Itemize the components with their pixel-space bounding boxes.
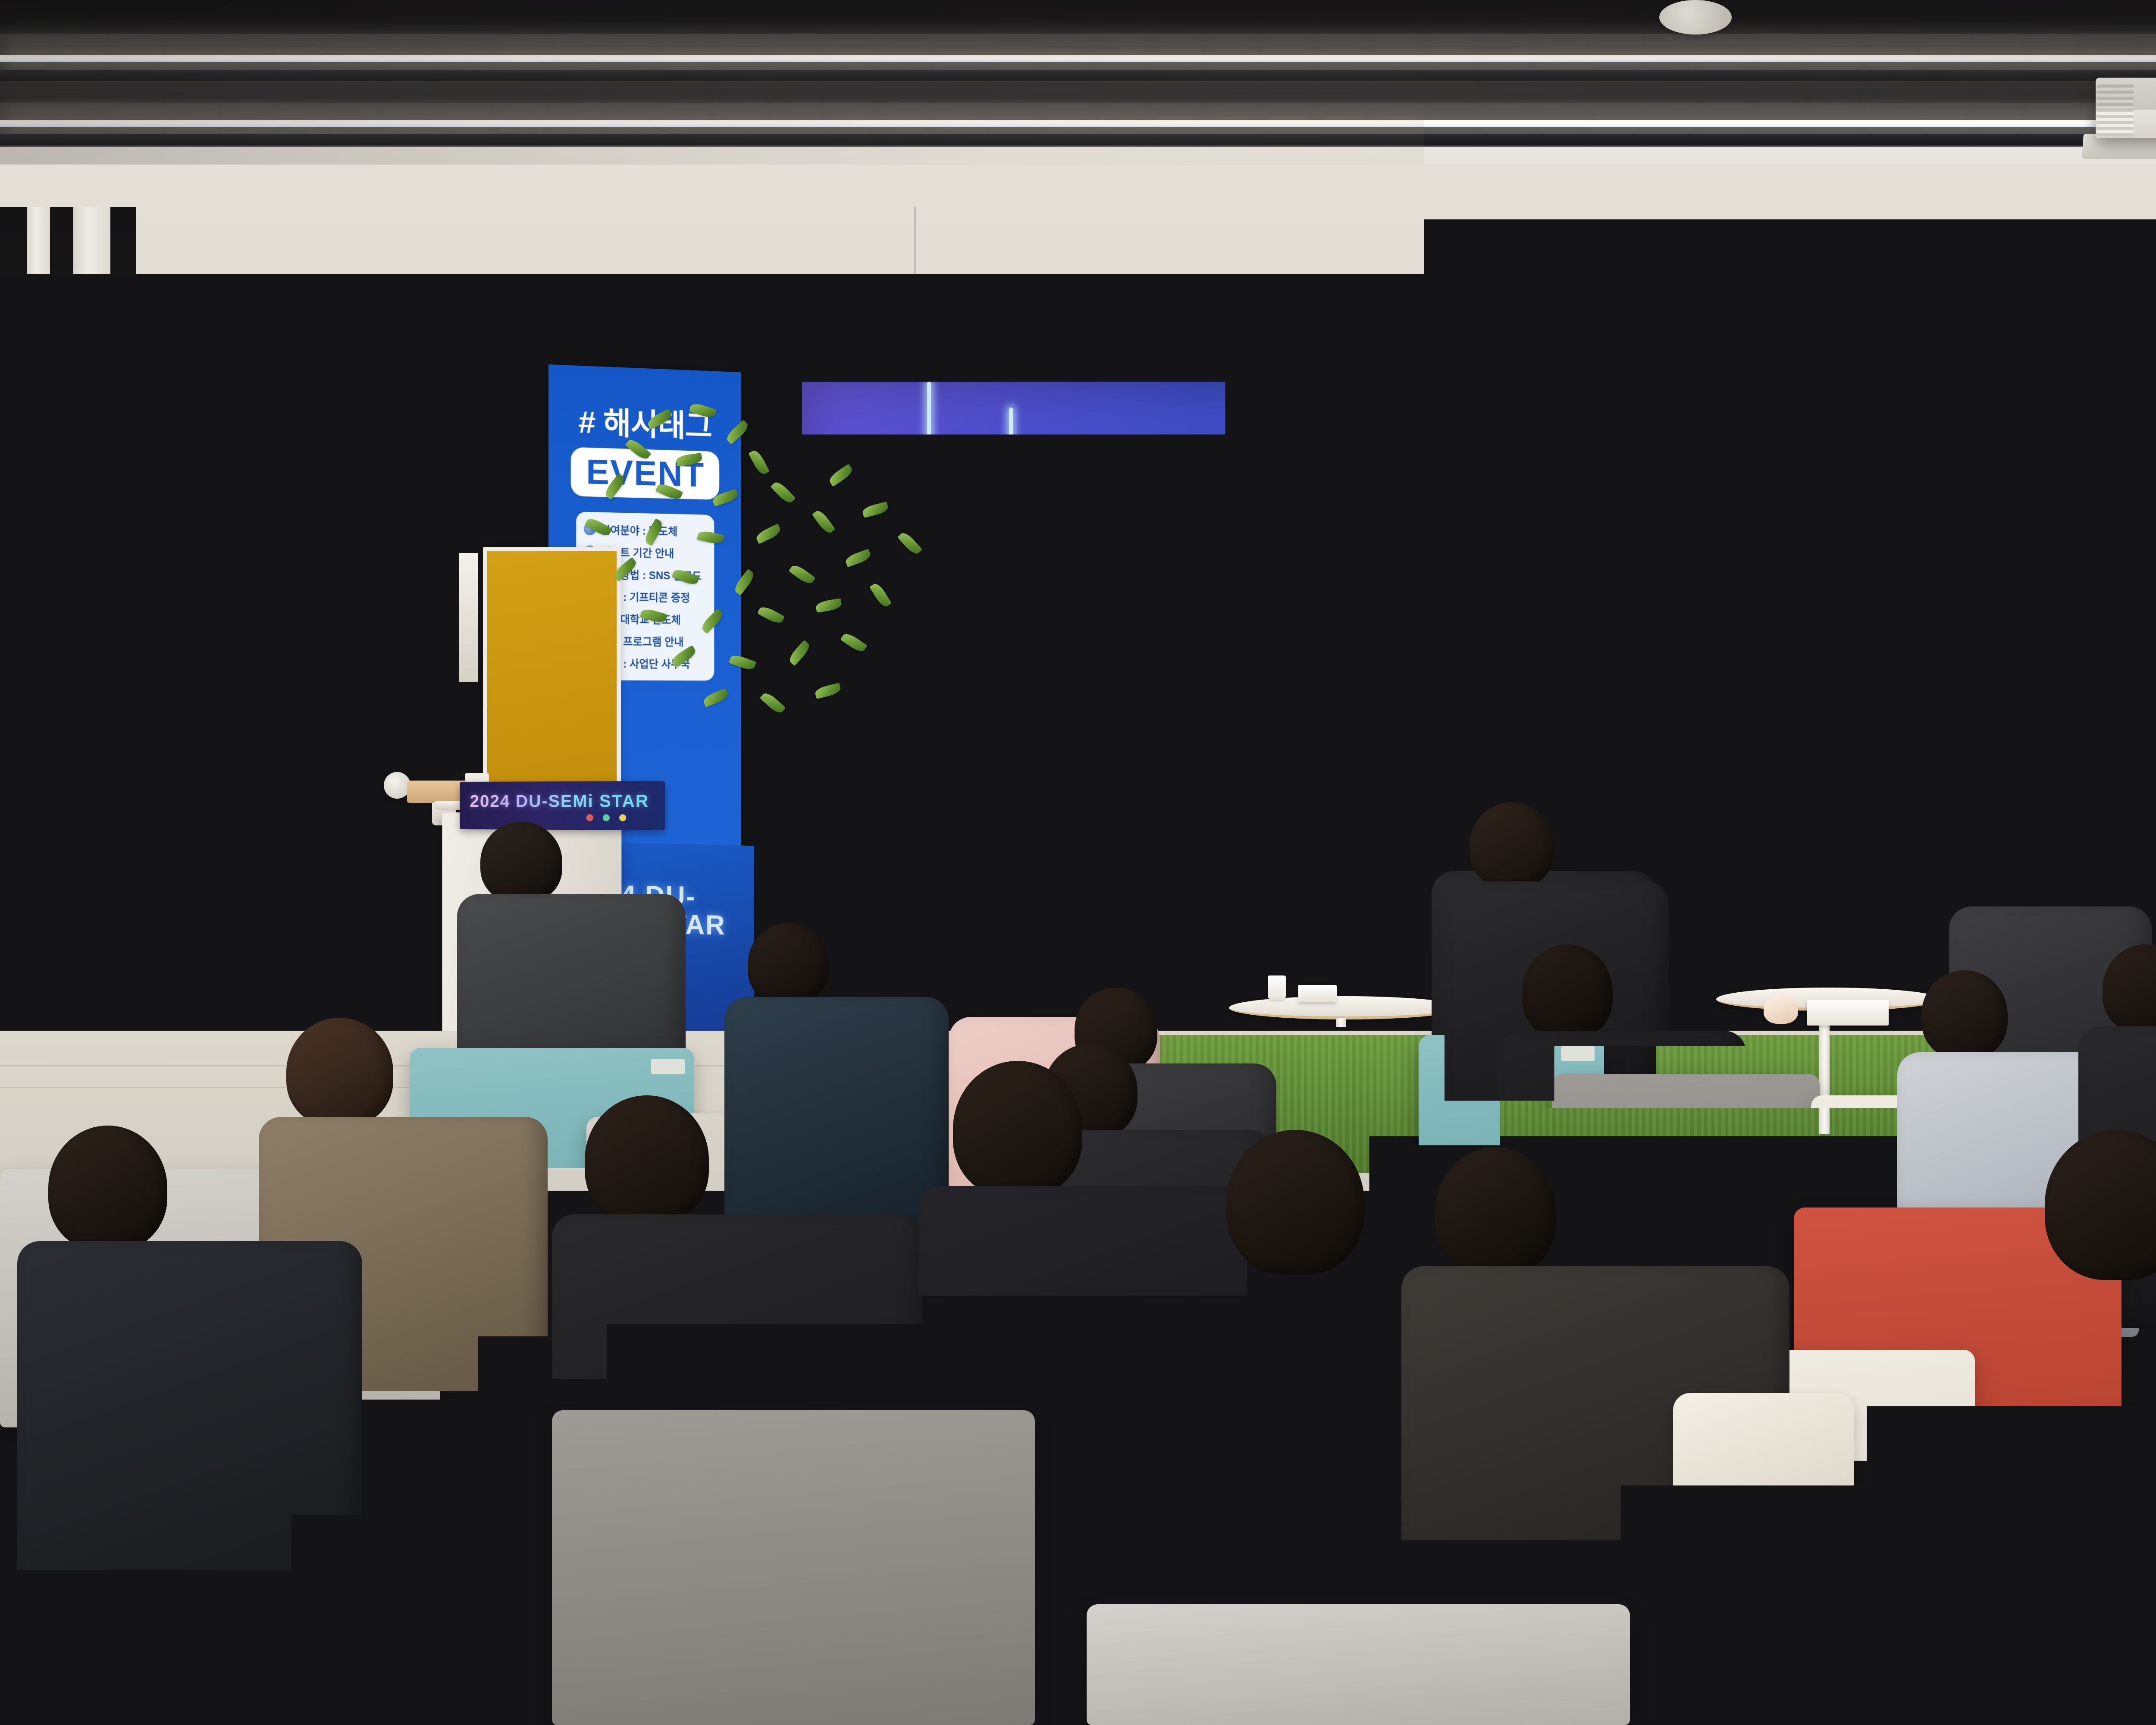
person-head	[1921, 970, 2008, 1059]
backdrop-logo-line2: DU-SEMi	[1793, 542, 2156, 615]
backpack	[65, 810, 142, 918]
seminar-room-photo: EPSON	[0, 0, 2156, 1725]
side-table-top	[1229, 996, 1462, 1019]
sponsor-dot-icon	[603, 814, 610, 821]
footer-label: Development Processes	[1267, 849, 1341, 856]
sponsor-logo-icon	[1805, 965, 1823, 983]
phase-header: Design	[1244, 636, 1272, 646]
sponsor-line1: 차세대 반도체	[1826, 964, 1893, 976]
footer-label: Implementation	[1277, 839, 1324, 847]
phase-header: Development	[1289, 636, 1341, 646]
ceiling-slat	[0, 86, 2156, 97]
speaker-hair	[1098, 573, 1181, 630]
sponsor-line2: 융합대학 사업단	[1826, 976, 1893, 989]
backdrop-date: 2024. 11. 27.(수)~28.(목)	[1879, 734, 2153, 768]
circuit-trace	[849, 909, 957, 913]
microphone-head	[1115, 824, 1140, 850]
ceiling-slat	[0, 103, 2156, 114]
backdrop-logo-line3: STAR	[1793, 615, 2156, 689]
chip-icon	[2071, 816, 2135, 868]
ceiling-slat	[0, 70, 2156, 81]
ceiling-led-strip	[0, 120, 2156, 127]
wall-clock-icon	[384, 772, 411, 799]
podium-banner-text: 2024 DU-SEMi STAR	[470, 791, 649, 811]
person-head	[973, 944, 1053, 1025]
plan-label: System Validation Plan	[1259, 688, 1325, 696]
paper-cup	[1268, 975, 1286, 1000]
plush-toy	[1764, 995, 1798, 1024]
person-head	[1522, 944, 1613, 1039]
phase-header: Testing/Validation/In-Service	[1344, 636, 1454, 646]
person-head	[936, 1596, 1082, 1725]
ceiling-slat	[0, 134, 2156, 145]
circuit-trace	[1009, 408, 1013, 744]
projector-vents	[2096, 85, 2134, 136]
indoor-plant	[561, 401, 983, 742]
chevron-box: Feasibility Study/ Concept Exploration	[1214, 655, 1286, 684]
person-head	[1435, 1147, 1556, 1276]
podium-banner: 2024 DU-SEMi STAR	[460, 781, 665, 830]
person-torso	[2005, 1268, 2156, 1725]
person-head	[480, 822, 562, 903]
board-edge	[459, 553, 478, 682]
arrow-right-icon	[1334, 702, 1341, 711]
stool-leg	[207, 874, 221, 982]
person-head	[585, 1095, 709, 1225]
ceiling-soffit-blinds	[1401, 295, 1643, 373]
person-head	[286, 1018, 393, 1126]
sponsor-dot-icon	[586, 814, 593, 821]
sponsor-name: 차세대 반도체 융합대학 사업단	[1826, 964, 1893, 989]
open-book	[1807, 1000, 1889, 1026]
chevron-box: Changes and Upgrades	[1405, 655, 1446, 691]
person-head	[1470, 802, 1554, 888]
backdrop-logo: 2024 DU-SEMi STAR	[1793, 468, 2156, 689]
side-table-leg	[1336, 1018, 1346, 1138]
wooden-tray	[407, 781, 467, 803]
chip-icon	[973, 770, 1037, 821]
backdrop-logo-line1: 2024	[1793, 468, 2156, 542]
sponsor-dot-icon	[619, 814, 626, 821]
circuit-node-icon	[2095, 690, 2115, 710]
furniture-tag	[651, 1059, 685, 1074]
person-torso	[17, 1241, 362, 1725]
ceiling-slat	[0, 34, 2156, 45]
person-head	[48, 1126, 167, 1251]
person-head	[953, 1061, 1082, 1197]
person-head	[748, 923, 829, 1005]
stool-leg	[48, 881, 61, 992]
cushion	[1673, 1393, 1854, 1531]
ceiling-speaker-icon	[1659, 0, 1732, 34]
wall-recess	[0, 207, 27, 1052]
display-brand-label: SAMSUNG	[1291, 866, 1339, 874]
person-torso	[724, 997, 949, 1239]
chevron-box: Operations and Maintenance	[1356, 655, 1406, 691]
circuit-node-icon	[1000, 732, 1019, 752]
person-torso	[552, 1214, 923, 1723]
bottom-box: Software/Hardware Development Field Inst…	[1259, 803, 1339, 834]
notepad	[1298, 985, 1337, 1002]
chevron-box: Retirement/ Replacement	[1447, 655, 1498, 685]
person-head	[1226, 1130, 1364, 1275]
person-head	[1976, 832, 2055, 914]
ceiling-led-strip	[0, 55, 2156, 62]
left-arm-box: Detailed Design	[1225, 775, 1266, 802]
